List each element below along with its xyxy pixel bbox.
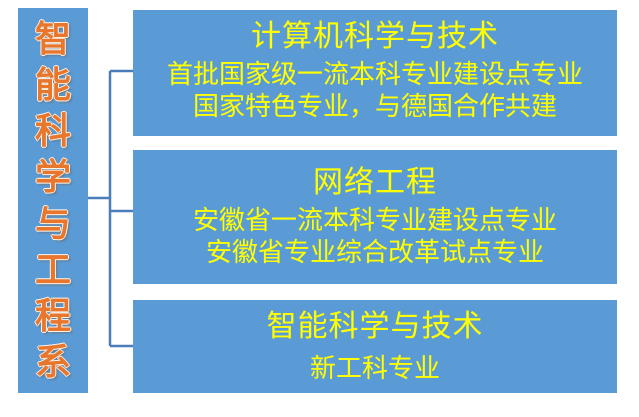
department-char-2: 能 [35, 67, 71, 103]
department-char-3: 科 [35, 113, 71, 149]
department-banner-text: 智 能 科 学 与 工 程 系 [18, 21, 88, 381]
program-description: 安徽省一流本科专业建设点专业 安徽省专业综合改革试点专业 [133, 206, 617, 269]
department-char-1: 智 [35, 21, 71, 57]
program-description-line: 新工科专业 [133, 354, 617, 386]
program-description: 新工科专业 [133, 354, 617, 386]
department-char-8: 系 [35, 344, 71, 380]
program-description-line: 首批国家级一流本科专业建设点专业 [133, 60, 617, 92]
department-char-4: 学 [35, 159, 71, 195]
program-description-line: 国家特色专业，与德国合作共建 [133, 92, 617, 124]
department-char-5: 与 [35, 206, 71, 242]
program-title: 计算机科学与技术 [251, 18, 499, 56]
department-char-6: 工 [35, 252, 71, 288]
program-box-computer-science[interactable]: 计算机科学与技术 首批国家级一流本科专业建设点专业 国家特色专业，与德国合作共建 [133, 10, 617, 136]
program-box-intelligent-science[interactable]: 智能科学与技术 新工科专业 [133, 300, 617, 393]
program-title: 智能科学与技术 [267, 308, 484, 346]
department-banner: 智 能 科 学 与 工 程 系 [18, 8, 88, 393]
department-char-7: 程 [35, 298, 71, 334]
program-description-line: 安徽省专业综合改革试点专业 [133, 238, 617, 270]
program-box-network-engineering[interactable]: 网络工程 安徽省一流本科专业建设点专业 安徽省专业综合改革试点专业 [133, 150, 617, 284]
program-title: 网络工程 [313, 164, 437, 202]
diagram-canvas: 智 能 科 学 与 工 程 系 计算机科学与技术 首批国家级一流本科专业建设点专… [0, 0, 639, 417]
program-description: 首批国家级一流本科专业建设点专业 国家特色专业，与德国合作共建 [133, 60, 617, 123]
program-description-line: 安徽省一流本科专业建设点专业 [133, 206, 617, 238]
